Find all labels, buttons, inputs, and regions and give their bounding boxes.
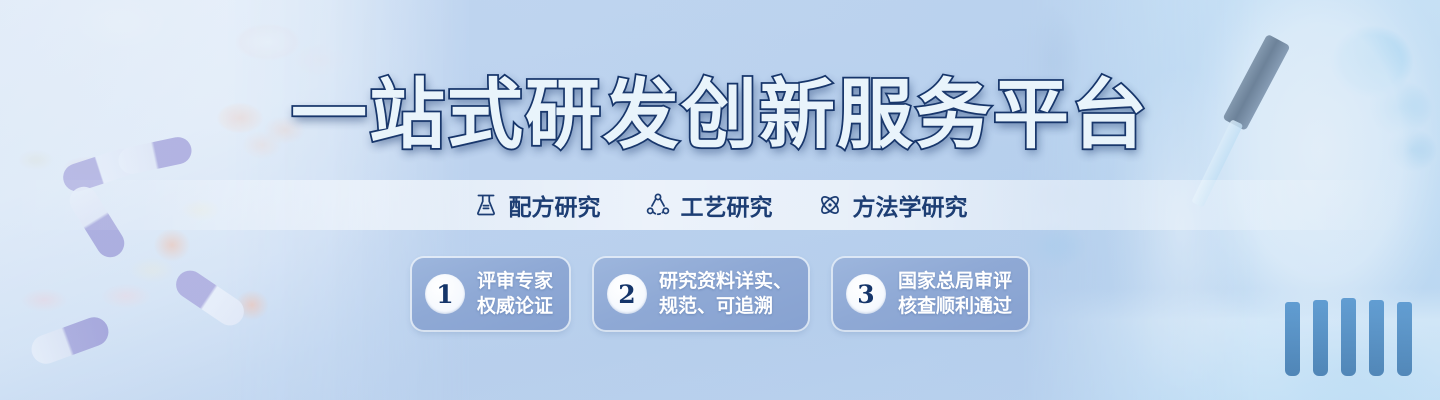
feature-text: 评审专家 权威论证 [477,269,553,319]
atom-icon [817,192,843,218]
feature-badges: 1 评审专家 权威论证 2 研究资料详实、 规范、可追溯 3 国家总局审评 核查… [0,258,1440,330]
feature-line-1: 国家总局审评 [898,269,1012,294]
feature-number: 3 [846,274,886,314]
service-item-methodology[interactable]: 方法学研究 [817,188,968,222]
hero-banner: 一站式研发创新服务平台 配方研究 [0,0,1440,400]
feature-line-1: 评审专家 [477,269,553,294]
feature-number: 1 [425,274,465,314]
molecule-icon [645,192,671,218]
services-band: 配方研究 工艺研究 方法学研究 [0,180,1440,230]
feature-text: 研究资料详实、 规范、可追溯 [659,269,792,319]
feature-text: 国家总局审评 核查顺利通过 [898,269,1012,319]
feature-number: 2 [607,274,647,314]
flask-icon [473,192,499,218]
feature-line-2: 权威论证 [477,294,553,319]
service-item-formulation[interactable]: 配方研究 [473,188,601,222]
feature-line-1: 研究资料详实、 [659,269,792,294]
feature-line-2: 核查顺利通过 [898,294,1012,319]
feature-badge-1[interactable]: 1 评审专家 权威论证 [412,258,569,330]
feature-badge-2[interactable]: 2 研究资料详实、 规范、可追溯 [594,258,808,330]
feature-line-2: 规范、可追溯 [659,294,792,319]
headline-container: 一站式研发创新服务平台 [0,72,1440,158]
service-item-process[interactable]: 工艺研究 [645,188,773,222]
feature-badge-3[interactable]: 3 国家总局审评 核查顺利通过 [833,258,1028,330]
service-label: 工艺研究 [681,188,773,222]
service-label: 配方研究 [509,188,601,222]
page-title: 一站式研发创新服务平台 [291,72,1149,158]
service-label: 方法学研究 [853,188,968,222]
